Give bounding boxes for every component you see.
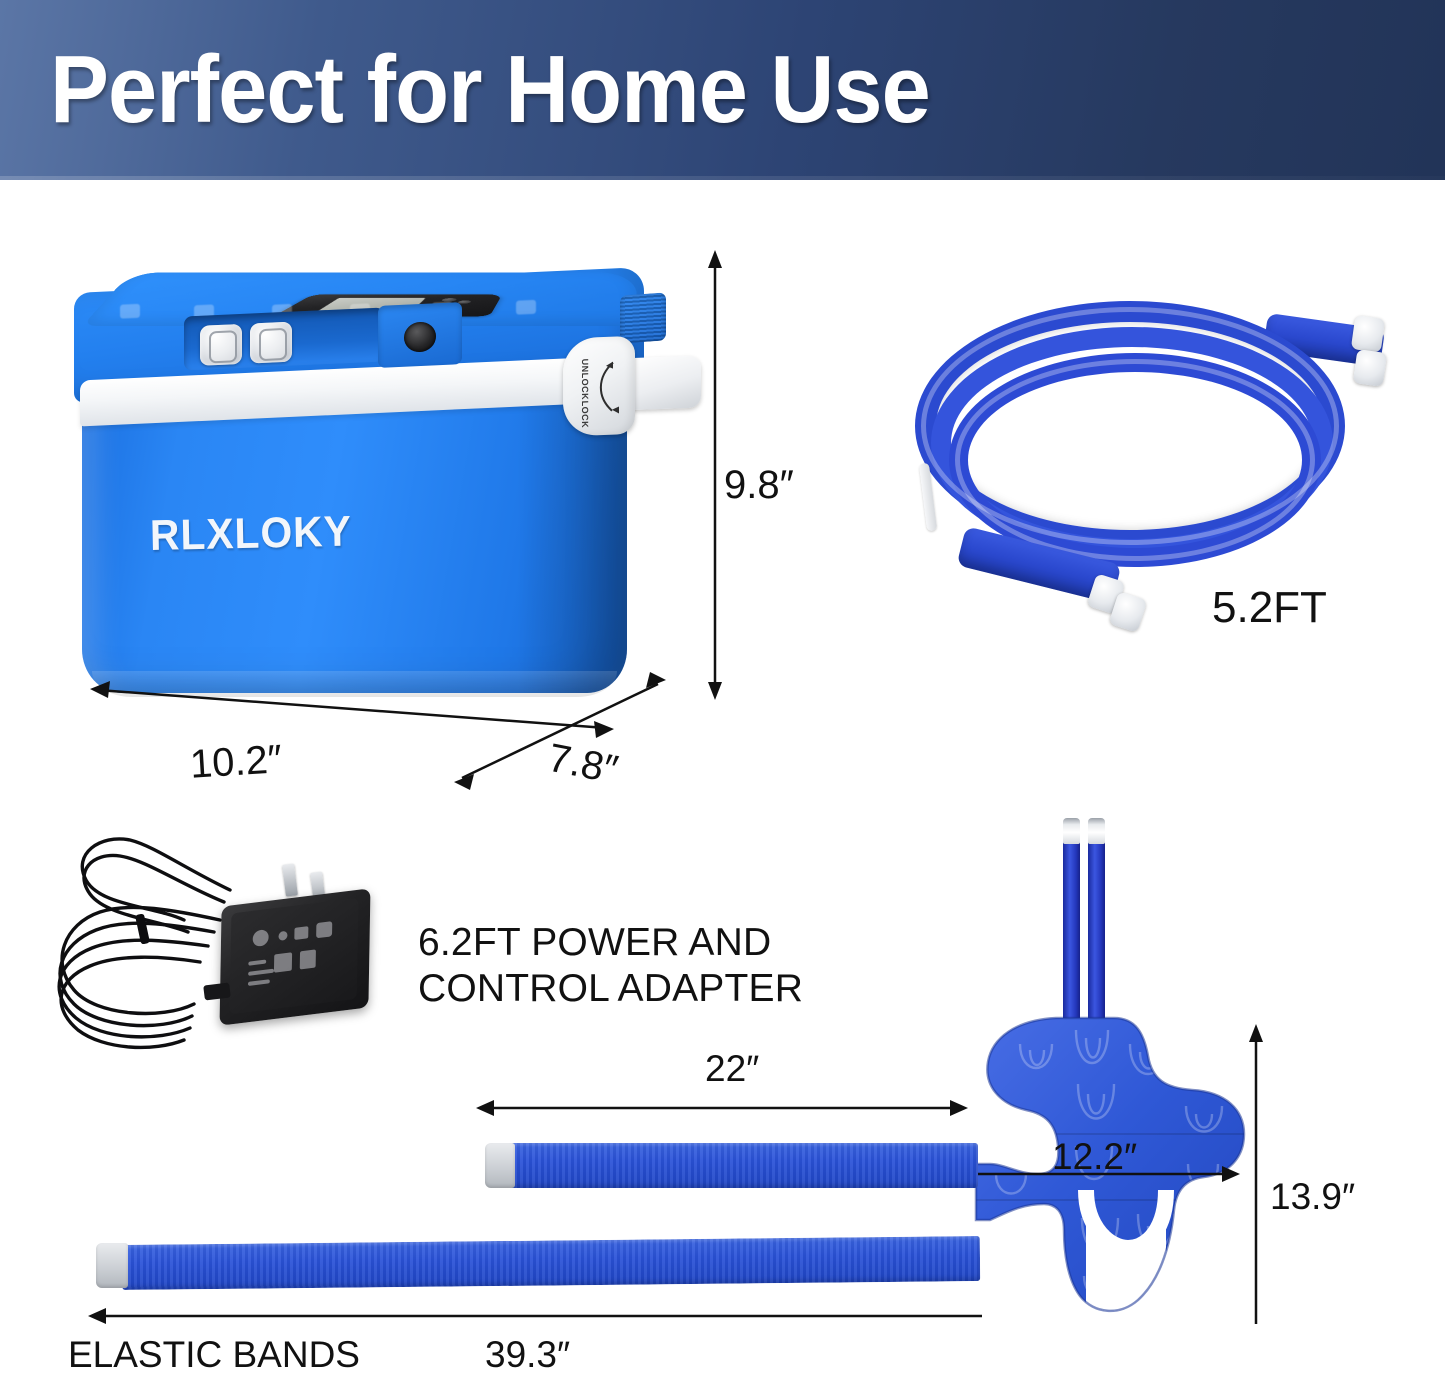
dc-plug-connector [203,982,231,1000]
cert-text-line-1 [248,960,266,966]
pad-height-arrow [1236,1012,1282,1332]
cooler-width-label: 10.2″ [189,737,284,788]
pad-tube-connector-2[interactable] [1088,818,1105,844]
elastic-band-long [122,1236,980,1290]
power-jack-plate [378,302,462,368]
cert-mark-fcc-icon [294,926,308,940]
lid-icon-1 [120,304,140,319]
cert-mark-dot-icon [278,931,287,941]
adapter-brick [220,888,371,1025]
therapy-pad-image [960,818,1260,1330]
rotate-arrow-icon [593,354,623,417]
lid-icon-6 [516,300,536,315]
lock-lever[interactable]: UNLOCK LOCK [563,334,701,439]
quick-connect-port-outlet[interactable] [250,322,292,364]
cooler-height-label: 9.8″ [724,463,794,508]
band-long-length-label: 39.3″ [485,1334,570,1376]
pad-tube-inlet [1063,840,1080,1040]
dc-power-jack[interactable] [404,321,436,352]
cooler-unit-image: UNLOCK LOCK [60,228,700,713]
brand-logo-text: RLXLOKY [150,508,353,561]
cert-mark-ce-icon [316,921,332,938]
hose-coil-image [905,295,1405,655]
adapter-caption-line-2: CONTROL ADAPTER [418,966,803,1012]
elastic-band-long-velcro-tip [96,1243,128,1288]
band-short-length-label: 22″ [705,1048,759,1090]
elastic-band-short-velcro-tip [485,1143,515,1188]
band-long-length-arrow [80,1296,990,1336]
power-adapter-image [34,828,394,1073]
elastic-bands-caption: ELASTIC BANDS [68,1334,360,1376]
plug-prong-1-icon [282,863,298,896]
cert-mark-square-icon [274,952,292,972]
elastic-band-short [508,1143,978,1188]
pad-tube-outlet [1088,840,1105,1040]
quick-connect-port-inlet[interactable] [200,324,242,366]
band-short-length-arrow [468,1086,978,1130]
cert-mark-ul-icon [253,929,269,947]
cert-text-line-3 [248,979,270,986]
cert-text-line-2 [248,969,274,976]
pad-width-label: 12.2″ [1052,1136,1137,1178]
hose-connector-bay [184,307,384,370]
pad-tube-connector-1[interactable] [1063,818,1080,844]
hose-length-label: 5.2FT [1212,583,1327,633]
cert-mark-bin-icon [300,949,316,969]
header-banner: Perfect for Home Use [0,0,1445,180]
hose-connector-right-2[interactable] [1353,349,1387,387]
lock-label: LOCK [580,400,590,428]
pad-height-label: 13.9″ [1270,1176,1355,1218]
lock-lever-knob[interactable]: UNLOCK LOCK [563,336,635,437]
adapter-caption-line-1: 6.2FT POWER AND [418,920,803,966]
hose-connector-right-1[interactable] [1351,315,1385,353]
adapter-label-face [230,898,359,1015]
unlock-label: UNLOCK [580,358,590,400]
adapter-caption: 6.2FT POWER AND CONTROL ADAPTER [418,920,803,1012]
page-title: Perfect for Home Use [50,42,930,138]
